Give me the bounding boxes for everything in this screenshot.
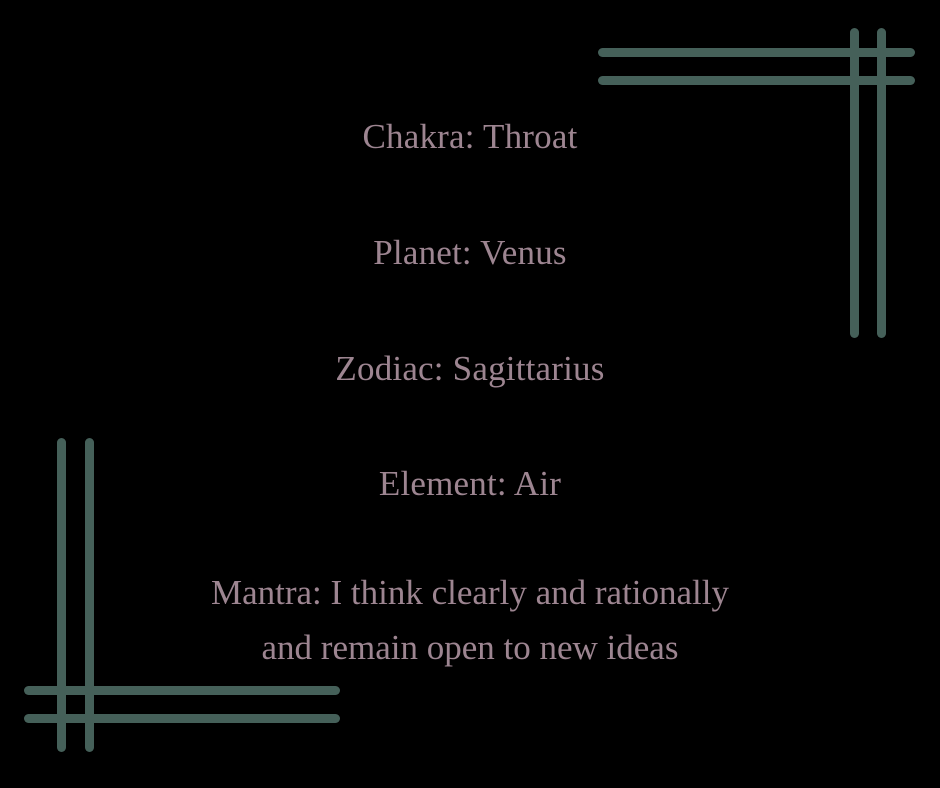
deco-vertical-line-top-1 xyxy=(850,28,859,338)
deco-vertical-line-bottom-1 xyxy=(57,438,66,752)
mantra-block: Mantra: I think clearly and rationally a… xyxy=(0,565,940,676)
info-card: Chakra: Throat Planet: Venus Zodiac: Sag… xyxy=(0,0,940,788)
deco-vertical-line-top-2 xyxy=(877,28,886,338)
deco-vertical-line-bottom-2 xyxy=(85,438,94,752)
attribute-chakra: Chakra: Throat xyxy=(0,118,940,156)
attribute-element: Element: Air xyxy=(0,465,940,503)
deco-horizontal-line-top-1 xyxy=(598,48,915,57)
attribute-list: Chakra: Throat Planet: Venus Zodiac: Sag… xyxy=(0,0,940,788)
deco-horizontal-line-top-2 xyxy=(598,76,915,85)
deco-horizontal-line-bottom-1 xyxy=(24,686,340,695)
mantra-line-2: and remain open to new ideas xyxy=(90,620,850,675)
attribute-planet: Planet: Venus xyxy=(0,234,940,272)
attribute-zodiac: Zodiac: Sagittarius xyxy=(0,350,940,388)
deco-horizontal-line-bottom-2 xyxy=(24,714,340,723)
mantra-line-1: Mantra: I think clearly and rationally xyxy=(90,565,850,620)
